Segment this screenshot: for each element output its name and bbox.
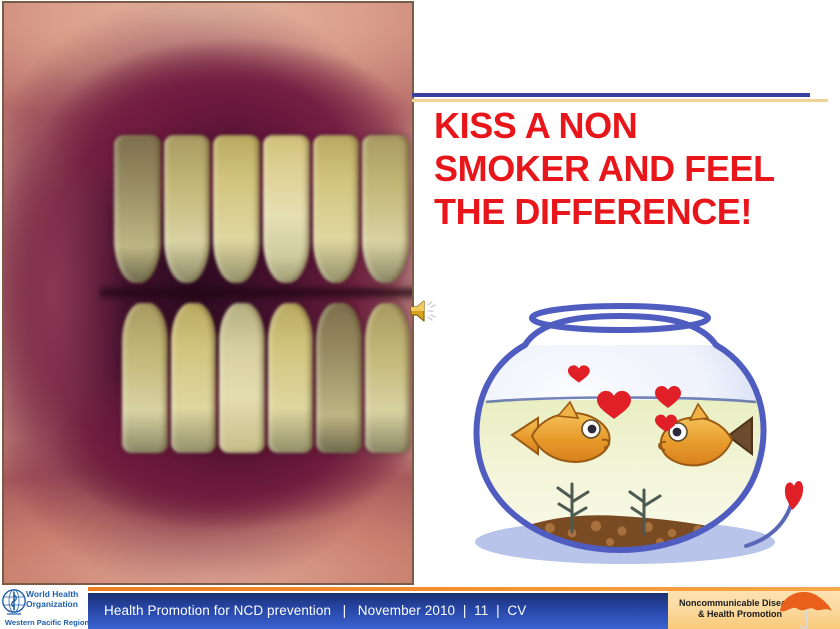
who-logo-name: World Health Organization [26, 590, 92, 609]
slide-canvas: KISS A NON SMOKER AND FEEL THE DIFFERENC… [0, 0, 840, 629]
umbrella-icon [776, 591, 838, 629]
title-rule-blue [412, 93, 810, 97]
photo-softening-overlay [4, 3, 412, 583]
title-rule-gold [412, 99, 828, 102]
who-logo: World Health Organization Western Pacifi… [2, 587, 90, 629]
who-logo-region: Western Pacific Region [3, 618, 91, 627]
speaker-icon[interactable] [408, 296, 442, 326]
fish-right-pupil [673, 428, 682, 437]
slide-footer: Health Promotion for NCD prevention | No… [0, 585, 840, 629]
smokers-teeth-photo [2, 1, 414, 585]
fish-left-pupil [588, 425, 597, 434]
slide-title: KISS A NON SMOKER AND FEEL THE DIFFERENC… [434, 104, 826, 233]
fishbowl-illustration [420, 250, 832, 585]
ncd-department-logo: Noncommunicable Diseases & Health Promot… [668, 591, 840, 629]
red-tulip-icon [785, 481, 803, 510]
footer-caption: Health Promotion for NCD prevention | No… [104, 593, 526, 629]
